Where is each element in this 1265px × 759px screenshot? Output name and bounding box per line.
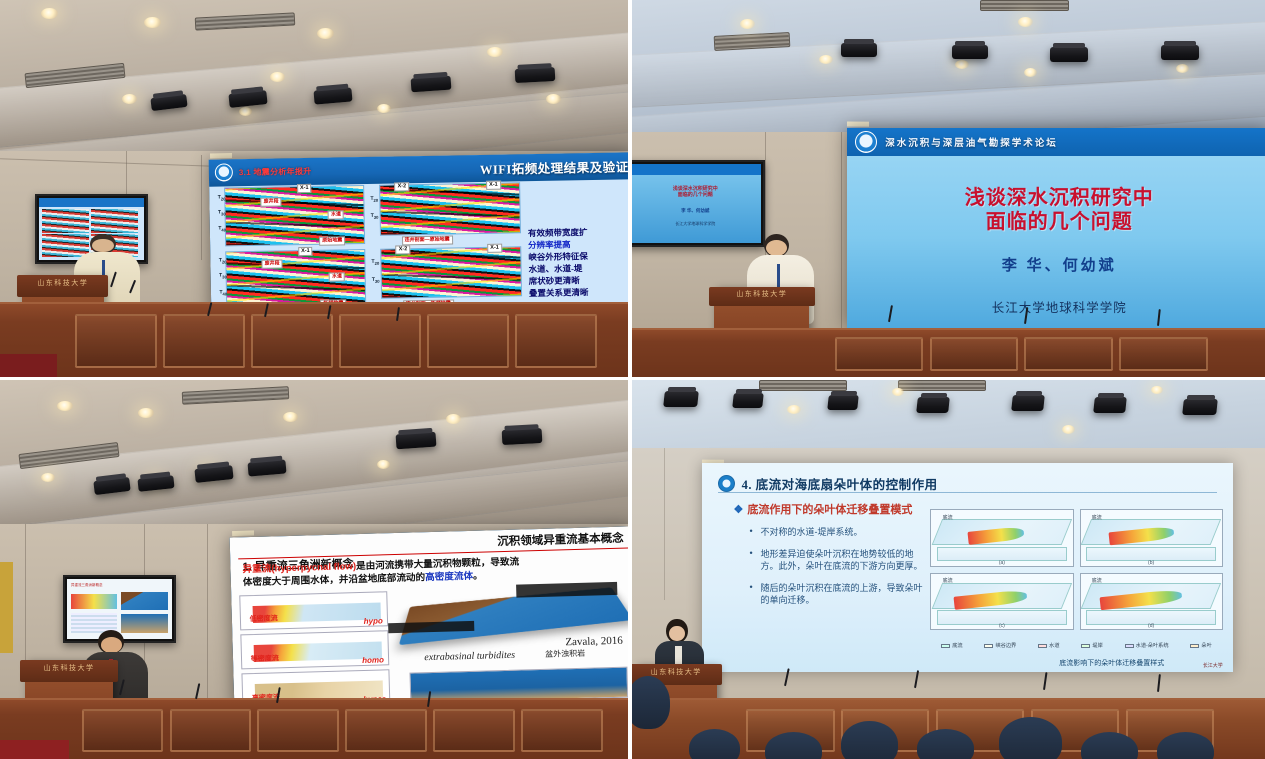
speaker-face: [669, 626, 684, 641]
audience-member: [999, 717, 1062, 759]
turbidite-label-cn: 盆外浊积岩: [545, 647, 585, 659]
slide-top-right: 深水沉积与深层油气勘探学术论坛 浅谈深水沉积研究中 面临的几个问题 李 华、何幼…: [847, 128, 1265, 328]
stage-light: [1161, 45, 1199, 60]
photo-bottom-right: 4. 底流对海底扇朵叶体的控制作用 ❖底流作用下的朵叶体迁移叠置模式 不对称的水…: [632, 380, 1265, 759]
legend-item: 水道-朵叶系统: [1125, 642, 1169, 649]
stage-desk: [0, 302, 628, 377]
seismic-tag: 水道: [328, 210, 344, 219]
paragraph-part-1: 是由河流携带大量沉积物颗粒，导致流: [356, 556, 519, 572]
mini-figure-homo: 等密度流 homo: [241, 629, 390, 669]
photo-grid: 3.1 地震分析年报升 WIFI拓频处理结果及验证 T20 T30 T40 X-…: [0, 0, 1265, 759]
legend-item: 峡谷边界: [984, 642, 1016, 649]
podium-text: 山东科技大学: [27, 663, 111, 673]
audience-member: [765, 732, 822, 759]
projection-screen: 深水沉积与深层油气勘探学术论坛 浅谈深水沉积研究中 面临的几个问题 李 华、何幼…: [847, 128, 1265, 328]
legend-item: 底流: [941, 642, 962, 649]
speaker-face: [92, 239, 113, 252]
slide-credit: 长江大学: [1203, 662, 1223, 669]
ceiling-spotlight: [377, 460, 390, 469]
stage-desk: [0, 698, 628, 759]
bullet-item: 叠置关系更清晰: [529, 287, 628, 300]
slide-bottom-right: 4. 底流对海底扇朵叶体的控制作用 ❖底流作用下的朵叶体迁移叠置模式 不对称的水…: [702, 463, 1234, 671]
institute-emblem-icon: [718, 475, 735, 492]
seismic-tag: 废井段: [262, 260, 283, 269]
seismic-caption: 原始地震: [320, 237, 346, 246]
stage-light: [732, 393, 764, 408]
seismic-label: X-1: [298, 248, 313, 257]
seismic-label: X-1: [488, 244, 503, 253]
forum-banner-text: 深水沉积与深层油气勘探学术论坛: [885, 135, 1058, 149]
bottom-current-arrow-label: 底流: [1092, 577, 1102, 584]
ceiling-vent: [980, 0, 1069, 11]
slide-right-bullets: 有效频带宽度扩 分辨率提高 峡谷外形特征保 水道、水道-堤 席状砂更清晰 叠置关…: [528, 227, 628, 300]
slide-body: 浅谈深水沉积研究中 面临的几个问题 李 华、何幼斌 长江大学地球科学学院: [847, 156, 1265, 328]
slide-affiliation: 长江大学地球科学学院: [992, 297, 1127, 316]
ceiling-spotlight: [57, 401, 73, 411]
bullet-item: 不对称的水道-堤岸系统。: [749, 526, 924, 538]
bottom-current-arrow-label: 底流: [1092, 514, 1102, 521]
slide-bullets: 不对称的水道-堤岸系统。 地形差异迫使朵叶沉积在地势较低的地方。此外，朵叶在底流…: [749, 526, 924, 616]
mini-figure-label: 等密度流: [251, 653, 279, 664]
ceiling-spotlight: [446, 414, 461, 424]
mini-figure-hypo: 低密度流 hypo: [240, 590, 389, 630]
seismic-label: X-1: [297, 184, 312, 193]
stage-light: [916, 397, 950, 413]
turbidite-label: extrabasinal turbidites: [425, 649, 516, 663]
ceiling-spotlight: [283, 412, 298, 422]
panel-top-right: 浅谈深水沉积研究中面临的几个问题 李 华、何幼斌 长江大学地球科学学院 深水沉积…: [632, 0, 1265, 380]
block-diagram-a: 底流 (a): [930, 509, 1073, 566]
stage-light: [841, 43, 877, 57]
slide-header-section: 3.1 地震分析年报升: [239, 166, 312, 178]
paragraph-end: 。: [473, 570, 483, 581]
block-diagram-c: 底流 (c): [930, 573, 1073, 630]
ceiling-spotlight: [787, 405, 801, 414]
projection-screen: 3.1 地震分析年报升 WIFI拓频处理结果及验证 T20 T30 T40 X-…: [209, 153, 628, 319]
mini-figure-eng: homo: [362, 655, 384, 665]
mini-figure-eng: hypo: [364, 616, 383, 626]
citation: Zavala, 2016: [566, 634, 624, 648]
seismic-figure-group: T20 T30 T40 X-1 废井段 水道 原始地震 T20 T30 T40 …: [218, 183, 525, 315]
slide-bottom-left: 1. 异重流三角洲新概念 沉积领域异重流基本概念 异重流(hyperpycnal…: [230, 526, 628, 711]
legend-item: 水道: [1038, 642, 1059, 649]
seismic-tag: 水道: [329, 272, 345, 281]
slide-title-line2: 面临的几个问题: [965, 210, 1154, 234]
photo-top-right: 浅谈深水沉积研究中面临的几个问题 李 华、何幼斌 长江大学地球科学学院 深水沉积…: [632, 0, 1265, 377]
slide-header-right: 沉积领域异重流基本概念: [497, 530, 624, 550]
photo-top-left: 3.1 地震分析年报升 WIFI拓频处理结果及验证 T20 T30 T40 X-…: [0, 0, 628, 377]
term-hyperpycnal: 异重流(hyperpycnal flow): [243, 561, 357, 575]
ceiling-spotlight: [740, 19, 755, 29]
stage-light: [663, 391, 699, 407]
ceiling-spotlight: [1018, 17, 1033, 27]
audience-member: [689, 729, 740, 759]
slide-title-line1: 浅谈深水沉积研究中: [965, 186, 1154, 210]
side-monitor-screen: 浅谈深水沉积研究中面临的几个问题 李 华、何幼斌 长江大学地球科学学院: [632, 164, 761, 243]
bullet-item: 随后的朵叶沉积在底流的上游，导致朵叶的单向迁移。: [749, 582, 924, 606]
bottom-current-arrow-label: 底流: [943, 577, 953, 584]
diagram-legend: 底流 峡谷边界 水道 堤岸 水道-朵叶系统 朵叶: [930, 642, 1222, 649]
stage-desk: [632, 328, 1265, 377]
stage-light: [1050, 47, 1088, 62]
stage-light: [313, 87, 352, 104]
bullet-item: 地形差异迫使朵叶沉积在地势较低的地方。此外，朵叶在底流的下游方向更厚。: [749, 548, 924, 572]
figure-caption: 底流影响下的朵叶体迁移叠置样式: [1059, 658, 1164, 668]
ceiling-spotlight: [819, 55, 833, 64]
projection-screen: 4. 底流对海底扇朵叶体的控制作用 ❖底流作用下的朵叶体迁移叠置模式 不对称的水…: [702, 463, 1234, 671]
stage-light: [502, 428, 543, 445]
panel-bottom-right: 4. 底流对海底扇朵叶体的控制作用 ❖底流作用下的朵叶体迁移叠置模式 不对称的水…: [632, 380, 1265, 759]
slide-banner: 深水沉积与深层油气勘探学术论坛: [847, 128, 1265, 156]
seismic-label: X-1: [486, 181, 501, 190]
stage-light: [515, 67, 556, 83]
ceiling-vent: [898, 380, 987, 391]
ceiling-spotlight: [487, 47, 503, 57]
diagram-grid: 底流 (a) 底流 (b) 底流 (c): [930, 509, 1222, 630]
wall-trim: [0, 562, 13, 653]
speaker-face: [101, 637, 122, 652]
university-emblem-icon: [855, 131, 877, 153]
slide-top-left: 3.1 地震分析年报升 WIFI拓频处理结果及验证 T20 T30 T40 X-…: [209, 153, 628, 319]
slide-title: 4. 底流对海底扇朵叶体的控制作用: [742, 474, 938, 493]
ceiling-spotlight: [41, 8, 58, 19]
mini-figure-label: 低密度流: [250, 613, 278, 624]
ceiling-spotlight: [41, 473, 55, 482]
stage-light: [952, 45, 988, 59]
slide-subheading: ❖底流作用下的朵叶体迁移叠置模式: [734, 501, 913, 517]
ceiling-spotlight: [377, 104, 391, 113]
annotation-box: [389, 620, 475, 633]
annotation-box: [516, 582, 618, 597]
slide-header: 4. 底流对海底扇朵叶体的控制作用: [718, 474, 1218, 493]
seismic-tag: 废井段: [261, 198, 282, 207]
slide-title: 浅谈深水沉积研究中 面临的几个问题: [965, 186, 1154, 234]
block-diagram-d: 底流 (d): [1080, 573, 1223, 630]
panel-bottom-left: 异重流三角洲新概念 1. 异重流三角洲新概念 沉积领域异重流基本概念 异重流(h…: [0, 380, 632, 759]
diagram-caption: (c): [931, 623, 1072, 629]
subheading-text: 底流作用下的朵叶体迁移叠置模式: [747, 504, 912, 516]
slide-divider: [718, 492, 1218, 493]
bottom-current-arrow-label: 底流: [943, 514, 953, 521]
photo-bottom-left: 异重流三角洲新概念 1. 异重流三角洲新概念 沉积领域异重流基本概念 异重流(h…: [0, 380, 628, 759]
diagram-caption: (b): [1081, 560, 1222, 566]
stage-light: [1182, 399, 1218, 415]
stage-light: [827, 395, 859, 410]
projection-screen: 1. 异重流三角洲新概念 沉积领域异重流基本概念 异重流(hyperpycnal…: [230, 526, 628, 711]
diagram-caption: (a): [931, 560, 1072, 566]
wall-seam: [201, 155, 202, 261]
slide-header-title: WIFI拓频处理结果及验证: [480, 157, 628, 179]
block-diagram-b: 底流 (b): [1080, 509, 1223, 566]
stage-light: [1093, 397, 1127, 413]
ceiling-spotlight: [1151, 386, 1163, 394]
slide-header-bar: 3.1 地震分析年报升 WIFI拓频处理结果及验证: [209, 153, 628, 187]
legend-item: 朵叶: [1190, 642, 1211, 649]
ceiling-vent: [759, 380, 848, 391]
ceiling-spotlight: [270, 72, 285, 82]
panel-top-left: 3.1 地震分析年报升 WIFI拓频处理结果及验证 T20 T30 T40 X-…: [0, 0, 632, 380]
diamond-bullet-icon: ❖: [734, 504, 744, 516]
ceiling-spotlight: [892, 388, 904, 396]
term-high-density: 高密度流体: [425, 571, 473, 583]
audience-member: [841, 721, 898, 759]
diagram-caption: (d): [1081, 623, 1222, 629]
podium-text: 山东科技大学: [24, 278, 102, 288]
podium-text: 山东科技大学: [716, 289, 807, 299]
seismic-label: X-2: [396, 246, 411, 255]
slide-authors: 李 华、何幼斌: [1002, 254, 1117, 275]
stage-light: [395, 432, 436, 450]
seismic-label: X-2: [395, 183, 410, 192]
university-emblem-icon: [215, 164, 233, 182]
figure-area: 低密度流 hypo 等密度流 homo 高密度流 hyper: [240, 584, 628, 710]
stage-light: [1011, 395, 1045, 411]
legend-item: 堤岸: [1081, 642, 1102, 649]
